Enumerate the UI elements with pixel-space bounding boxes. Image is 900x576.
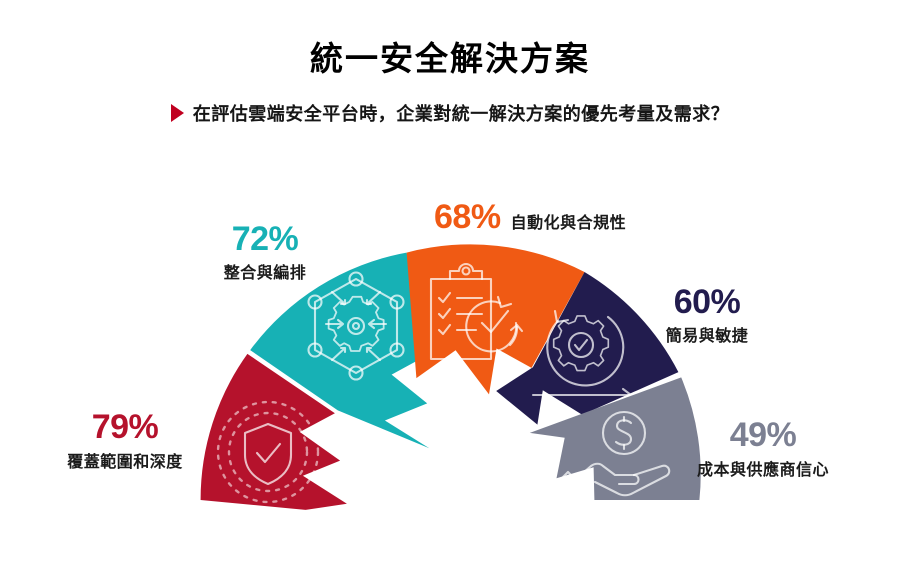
callout-agility-value: 60% <box>674 283 741 321</box>
callout-cost: 49% 成本與供應商信心 <box>668 418 858 479</box>
callout-automation-label: 自動化與合規性 <box>511 216 627 232</box>
callout-automation: 68% 自動化與合規性 <box>434 200 626 234</box>
callout-coverage: 79% 覆蓋範圍和深度 <box>30 410 220 471</box>
arc-chart: .ico { fill: none; stroke: #ffffff; stro… <box>0 0 900 576</box>
callout-coverage-value: 79% <box>92 408 159 446</box>
callout-automation-value: 68% <box>434 200 501 234</box>
callout-coverage-label: 覆蓋範圍和深度 <box>30 455 220 471</box>
callout-cost-label: 成本與供應商信心 <box>668 463 858 479</box>
callout-cost-value: 49% <box>730 416 797 454</box>
callout-integration: 72% 整合與編排 <box>190 222 340 282</box>
callout-agility: 60% 簡易與敏捷 <box>622 285 792 345</box>
infographic-root: 統一安全解決方案 在評估雲端安全平台時，企業對統一解決方案的優先考量及需求？ .… <box>0 0 900 576</box>
callout-agility-label: 簡易與敏捷 <box>622 329 792 345</box>
callout-integration-value: 72% <box>232 220 299 258</box>
callout-integration-label: 整合與編排 <box>190 266 340 282</box>
